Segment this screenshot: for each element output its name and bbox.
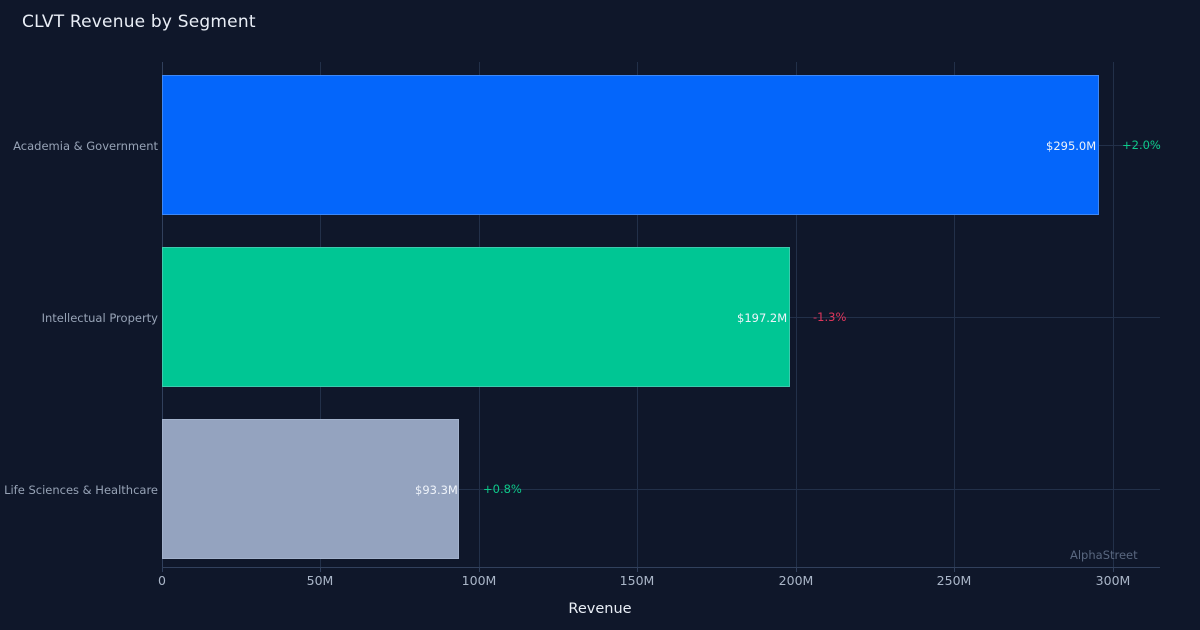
delta-label-academia-government: +2.0% bbox=[1122, 138, 1161, 152]
chart-title: CLVT Revenue by Segment bbox=[22, 12, 256, 32]
y-category-label-intellectual-property: Intellectual Property bbox=[42, 311, 158, 325]
chart-container: CLVT Revenue by Segment 0 50M 100M 150M … bbox=[0, 0, 1200, 630]
x-tick-label: 0 bbox=[158, 573, 166, 588]
bar-intellectual-property[interactable] bbox=[162, 247, 790, 387]
bar-value-intellectual-property: $197.2M bbox=[737, 311, 787, 325]
x-tick-label: 50M bbox=[307, 573, 334, 588]
delta-label-life-sciences-healthcare: +0.8% bbox=[483, 482, 522, 496]
axis-baseline bbox=[162, 567, 1160, 568]
x-tick-mark bbox=[1113, 567, 1114, 572]
y-category-label-life-sciences-healthcare: Life Sciences & Healthcare bbox=[4, 483, 158, 497]
y-category-label-academia-government: Academia & Government bbox=[13, 139, 158, 153]
x-tick-mark bbox=[479, 567, 480, 572]
x-tick-label: 200M bbox=[779, 573, 814, 588]
x-tick-mark bbox=[796, 567, 797, 572]
x-tick-label: 300M bbox=[1096, 573, 1131, 588]
bar-academia-government[interactable] bbox=[162, 75, 1099, 215]
watermark-alphastreet: AlphaStreet bbox=[1070, 548, 1138, 562]
x-tick-mark bbox=[320, 567, 321, 572]
bar-value-academia-government: $295.0M bbox=[1046, 139, 1096, 153]
bar-value-life-sciences-healthcare: $93.3M bbox=[415, 483, 458, 497]
x-axis-title: Revenue bbox=[0, 601, 1200, 617]
x-tick-label: 150M bbox=[620, 573, 655, 588]
gridline-vertical bbox=[1113, 62, 1114, 567]
delta-label-intellectual-property: -1.3% bbox=[813, 310, 846, 324]
x-tick-mark bbox=[162, 567, 163, 572]
x-tick-mark bbox=[954, 567, 955, 572]
x-tick-label: 250M bbox=[937, 573, 972, 588]
x-tick-mark bbox=[637, 567, 638, 572]
x-tick-label: 100M bbox=[462, 573, 497, 588]
